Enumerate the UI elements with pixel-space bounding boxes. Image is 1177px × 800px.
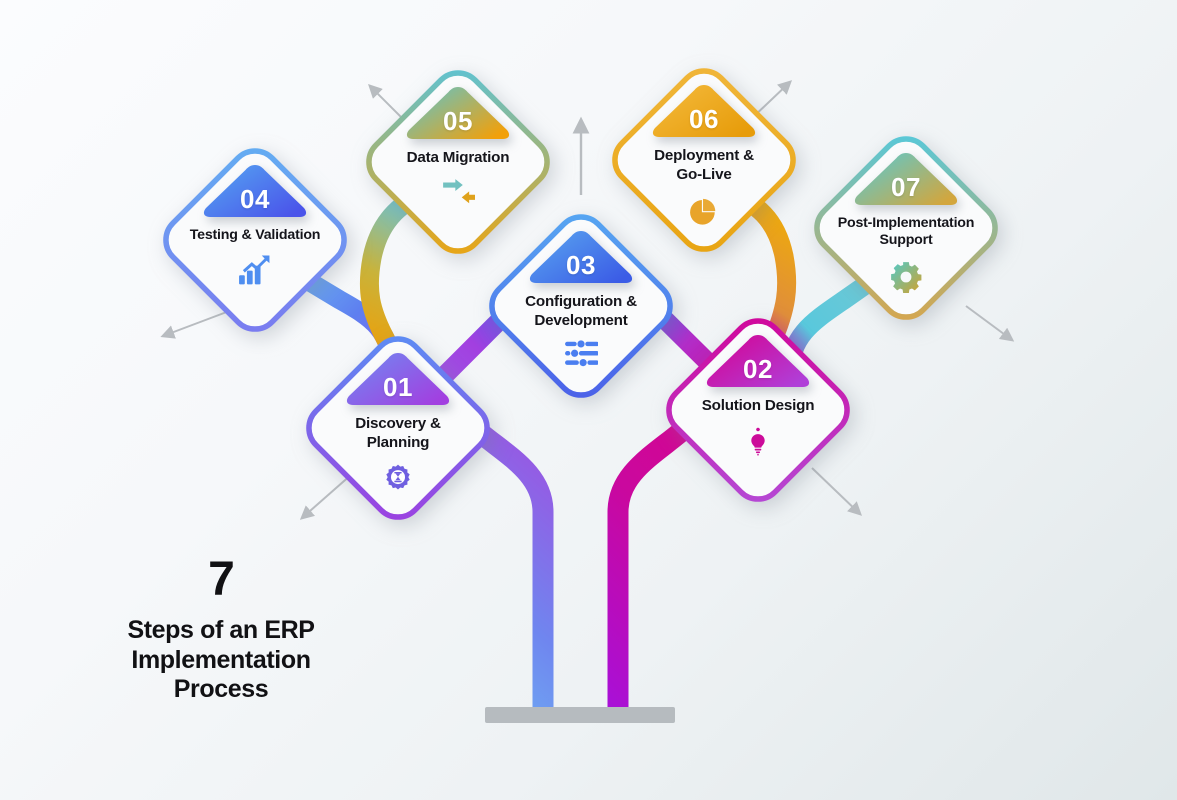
node-label-line2-01: Planning	[309, 434, 487, 453]
sliders-settings-icon	[561, 337, 601, 377]
node-cap-07: 07	[852, 152, 960, 206]
node-content-04: 04 Testing & Validation	[157, 142, 353, 338]
node-label-line1-02: Solution Design	[669, 397, 847, 416]
lightbulb-icon	[738, 423, 778, 463]
node-content-07: 07 Post-Implementation Support	[808, 130, 1004, 326]
node-content-02: 02 Solution Design	[660, 312, 856, 508]
node-label-line1-04: Testing & Validation	[162, 227, 348, 244]
node-label-line1-01: Discovery &	[309, 415, 487, 434]
node-content-01: 01 Discovery & Planning	[300, 330, 496, 526]
node-label-06: Deployment & Go-Live	[615, 147, 793, 184]
node-label-line1-05: Data Migration	[369, 149, 547, 168]
node-number-02: 02	[743, 356, 773, 382]
node-number-04: 04	[240, 186, 270, 212]
node-05[interactable]: 05 Data Migration	[360, 64, 556, 260]
title-block: 7 Steps of an ERP Implementation Process	[70, 556, 372, 705]
node-label-04: Testing & Validation	[162, 227, 348, 244]
node-cap-06: 06	[650, 84, 758, 138]
title-line-1: Steps of an ERP	[70, 616, 372, 646]
node-02[interactable]: 02 Solution Design	[660, 312, 856, 508]
node-label-03: Configuration & Development	[492, 293, 670, 330]
node-label-01: Discovery & Planning	[309, 415, 487, 452]
node-cap-04: 04	[201, 164, 309, 218]
node-content-05: 05 Data Migration	[360, 64, 556, 260]
node-label-07: Post-Implementation Support	[813, 215, 999, 250]
node-label-line1-06: Deployment &	[615, 147, 793, 166]
node-number-06: 06	[689, 106, 719, 132]
node-number-03: 03	[566, 252, 596, 278]
infographic-canvas: 01 Discovery & Planning	[0, 0, 1177, 800]
pie-chart-icon	[684, 191, 724, 231]
ground-base-bar	[485, 707, 675, 723]
node-06[interactable]: 06 Deployment & Go-Live	[606, 62, 802, 258]
node-07[interactable]: 07 Post-Implementation Support	[808, 130, 1004, 326]
node-label-line1-07: Post-Implementation	[813, 215, 999, 232]
node-label-05: Data Migration	[369, 149, 547, 168]
title-number: 7	[70, 556, 372, 604]
node-number-05: 05	[443, 108, 473, 134]
node-label-line1-03: Configuration &	[492, 293, 670, 312]
node-label-line2-07: Support	[813, 232, 999, 249]
node-number-01: 01	[383, 374, 413, 400]
title-subtitle: Steps of an ERP Implementation Process	[70, 616, 372, 705]
node-cap-01: 01	[344, 352, 452, 406]
gear-hourglass-icon	[378, 459, 418, 499]
node-cap-02: 02	[704, 334, 812, 388]
title-line-2: Implementation	[70, 646, 372, 676]
node-label-line2-06: Go-Live	[615, 166, 793, 185]
node-01[interactable]: 01 Discovery & Planning	[300, 330, 496, 526]
node-label-02: Solution Design	[669, 397, 847, 416]
title-line-3: Process	[70, 675, 372, 705]
gear-icon	[886, 257, 926, 297]
growth-bar-chart-icon	[235, 251, 275, 291]
node-content-06: 06 Deployment & Go-Live	[606, 62, 802, 258]
node-04[interactable]: 04 Testing & Validation	[157, 142, 353, 338]
node-cap-05: 05	[404, 86, 512, 140]
data-transfer-arrows-icon	[438, 175, 478, 215]
node-number-07: 07	[891, 174, 921, 200]
node-label-line2-03: Development	[492, 312, 670, 331]
